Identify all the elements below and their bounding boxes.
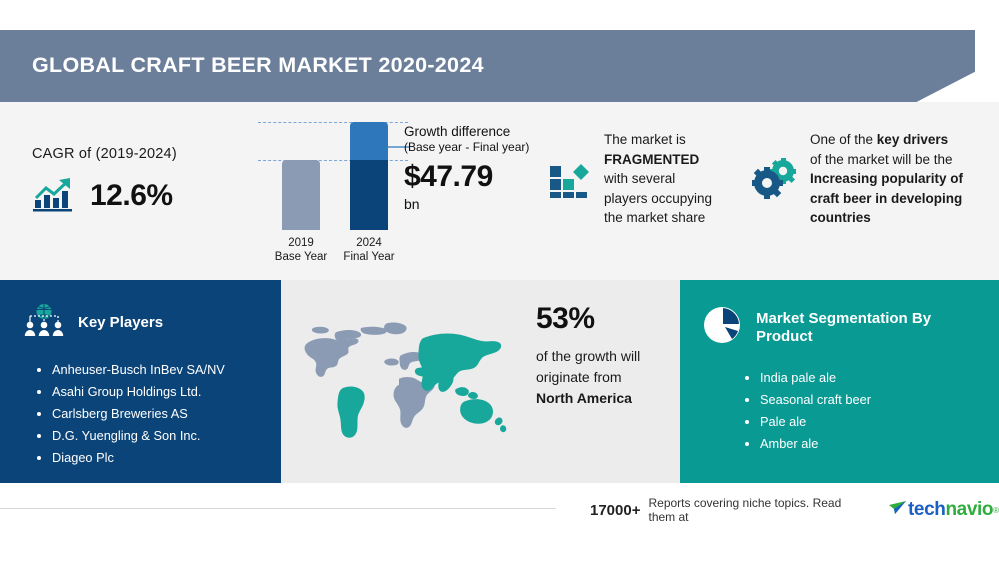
list-item: Anheuser-Busch InBev SA/NV [34, 359, 281, 381]
list-item: Asahi Group Holdings Ltd. [34, 381, 281, 403]
fragmented-line3: players occupying [604, 191, 712, 206]
map-region: North America [536, 390, 632, 406]
gears-icon [752, 158, 800, 228]
drivers-bold-block: Increasing popularity of craft beer in d… [810, 171, 963, 225]
list-item: India pale ale [742, 367, 999, 389]
footer: 17000+ Reports covering niche topics. Re… [0, 483, 999, 562]
footer-text: Reports covering niche topics. Read them… [648, 496, 871, 524]
technavio-logo[interactable]: technavio® [889, 499, 999, 521]
drivers-line1-pre: One of the [810, 132, 877, 147]
segmentation-list: India pale ale Seasonal craft beer Pale … [742, 367, 999, 455]
key-players-panel: Key Players Anheuser-Busch InBev SA/NV A… [0, 280, 281, 483]
logo-text-tech: tech [908, 499, 945, 521]
bar-2024-year: 2024 [356, 237, 382, 249]
page-title: GLOBAL CRAFT BEER MARKET 2020-2024 [32, 53, 484, 78]
list-item: Amber ale [742, 433, 999, 455]
growth-callout-text: Growth difference (Base year - Final yea… [404, 124, 554, 212]
key-players-title: Key Players [78, 314, 163, 332]
bar-2024-label: 2024 Final Year [334, 236, 404, 264]
paper-plane-icon [889, 500, 906, 520]
cagr-value: 12.6% [90, 179, 173, 213]
market-segmentation-panel: Market Segmentation By Product India pal… [680, 280, 999, 483]
list-item: Carlsberg Breweries AS [34, 403, 281, 425]
world-map [297, 306, 522, 456]
fragmented-line4: the market share [604, 210, 705, 225]
segmentation-title: Market Segmentation By Product [756, 310, 931, 346]
list-item: Seasonal craft beer [742, 389, 999, 411]
bar-2024-base [350, 160, 388, 230]
segmentation-title-line2: Product [756, 328, 813, 345]
header-banner: GLOBAL CRAFT BEER MARKET 2020-2024 [0, 30, 975, 102]
logo-text-navio: navio [945, 499, 993, 521]
bar-chart-growth-icon [32, 174, 76, 217]
list-item: Pale ale [742, 411, 999, 433]
fragmented-block: The market is FRAGMENTED with several pl… [548, 130, 748, 228]
growth-origin-desc: of the growth will originate from North … [536, 346, 681, 409]
reports-count: 17000+ [590, 502, 640, 519]
growth-percent: 53% [536, 302, 681, 336]
fragmented-text: The market is FRAGMENTED with several pl… [604, 130, 734, 228]
bar-2024-caption: Final Year [343, 251, 394, 263]
fragmented-bold: FRAGMENTED [604, 152, 699, 167]
logo-trademark: ® [993, 506, 999, 515]
growth-callout-arrow-icon [360, 140, 410, 158]
growth-callout-line1: Growth difference [404, 124, 554, 139]
map-desc-line1: of the growth will [536, 348, 640, 364]
map-desc-line2: originate from [536, 369, 622, 385]
bottom-panels: Key Players Anheuser-Busch InBev SA/NV A… [0, 280, 999, 483]
growth-value: $47.79 [404, 160, 554, 194]
key-drivers-text: One of the key drivers of the market wil… [810, 130, 992, 228]
growth-origin-text: 53% of the growth will originate from No… [536, 302, 681, 409]
top-stats-band: CAGR of (2019-2024) 12.6% [0, 102, 999, 280]
fragmented-line2: with several [604, 171, 675, 186]
cagr-block: CAGR of (2019-2024) 12.6% [32, 146, 247, 217]
segmentation-title-line1: Market Segmentation By [756, 310, 931, 327]
cagr-label: CAGR of (2019-2024) [32, 146, 247, 162]
regional-growth-panel: 53% of the growth will originate from No… [281, 280, 680, 483]
infographic-root: GLOBAL CRAFT BEER MARKET 2020-2024 CAGR … [0, 0, 999, 562]
drivers-line1-bold: key drivers [877, 132, 948, 147]
bar-2019-caption: Base Year [275, 251, 327, 263]
list-item: Diageo Plc [34, 447, 281, 469]
bar-2019-label: 2019 Base Year [266, 236, 336, 264]
drivers-line2: of the market will be the [810, 152, 953, 167]
key-players-list: Anheuser-Busch InBev SA/NV Asahi Group H… [34, 359, 281, 469]
key-drivers-block: One of the key drivers of the market wil… [752, 130, 992, 228]
growth-unit: bn [404, 196, 554, 212]
footer-divider [0, 508, 556, 509]
list-item: D.G. Yuengling & Son Inc. [34, 425, 281, 447]
squares-diamond-icon [548, 156, 592, 228]
fragmented-line1: The market is [604, 132, 686, 147]
bar-2019 [282, 160, 320, 230]
pie-chart-icon [702, 304, 744, 351]
bar-2019-year: 2019 [288, 237, 314, 249]
key-players-globe-icon [22, 302, 66, 343]
growth-callout-line2: (Base year - Final year) [404, 140, 554, 154]
